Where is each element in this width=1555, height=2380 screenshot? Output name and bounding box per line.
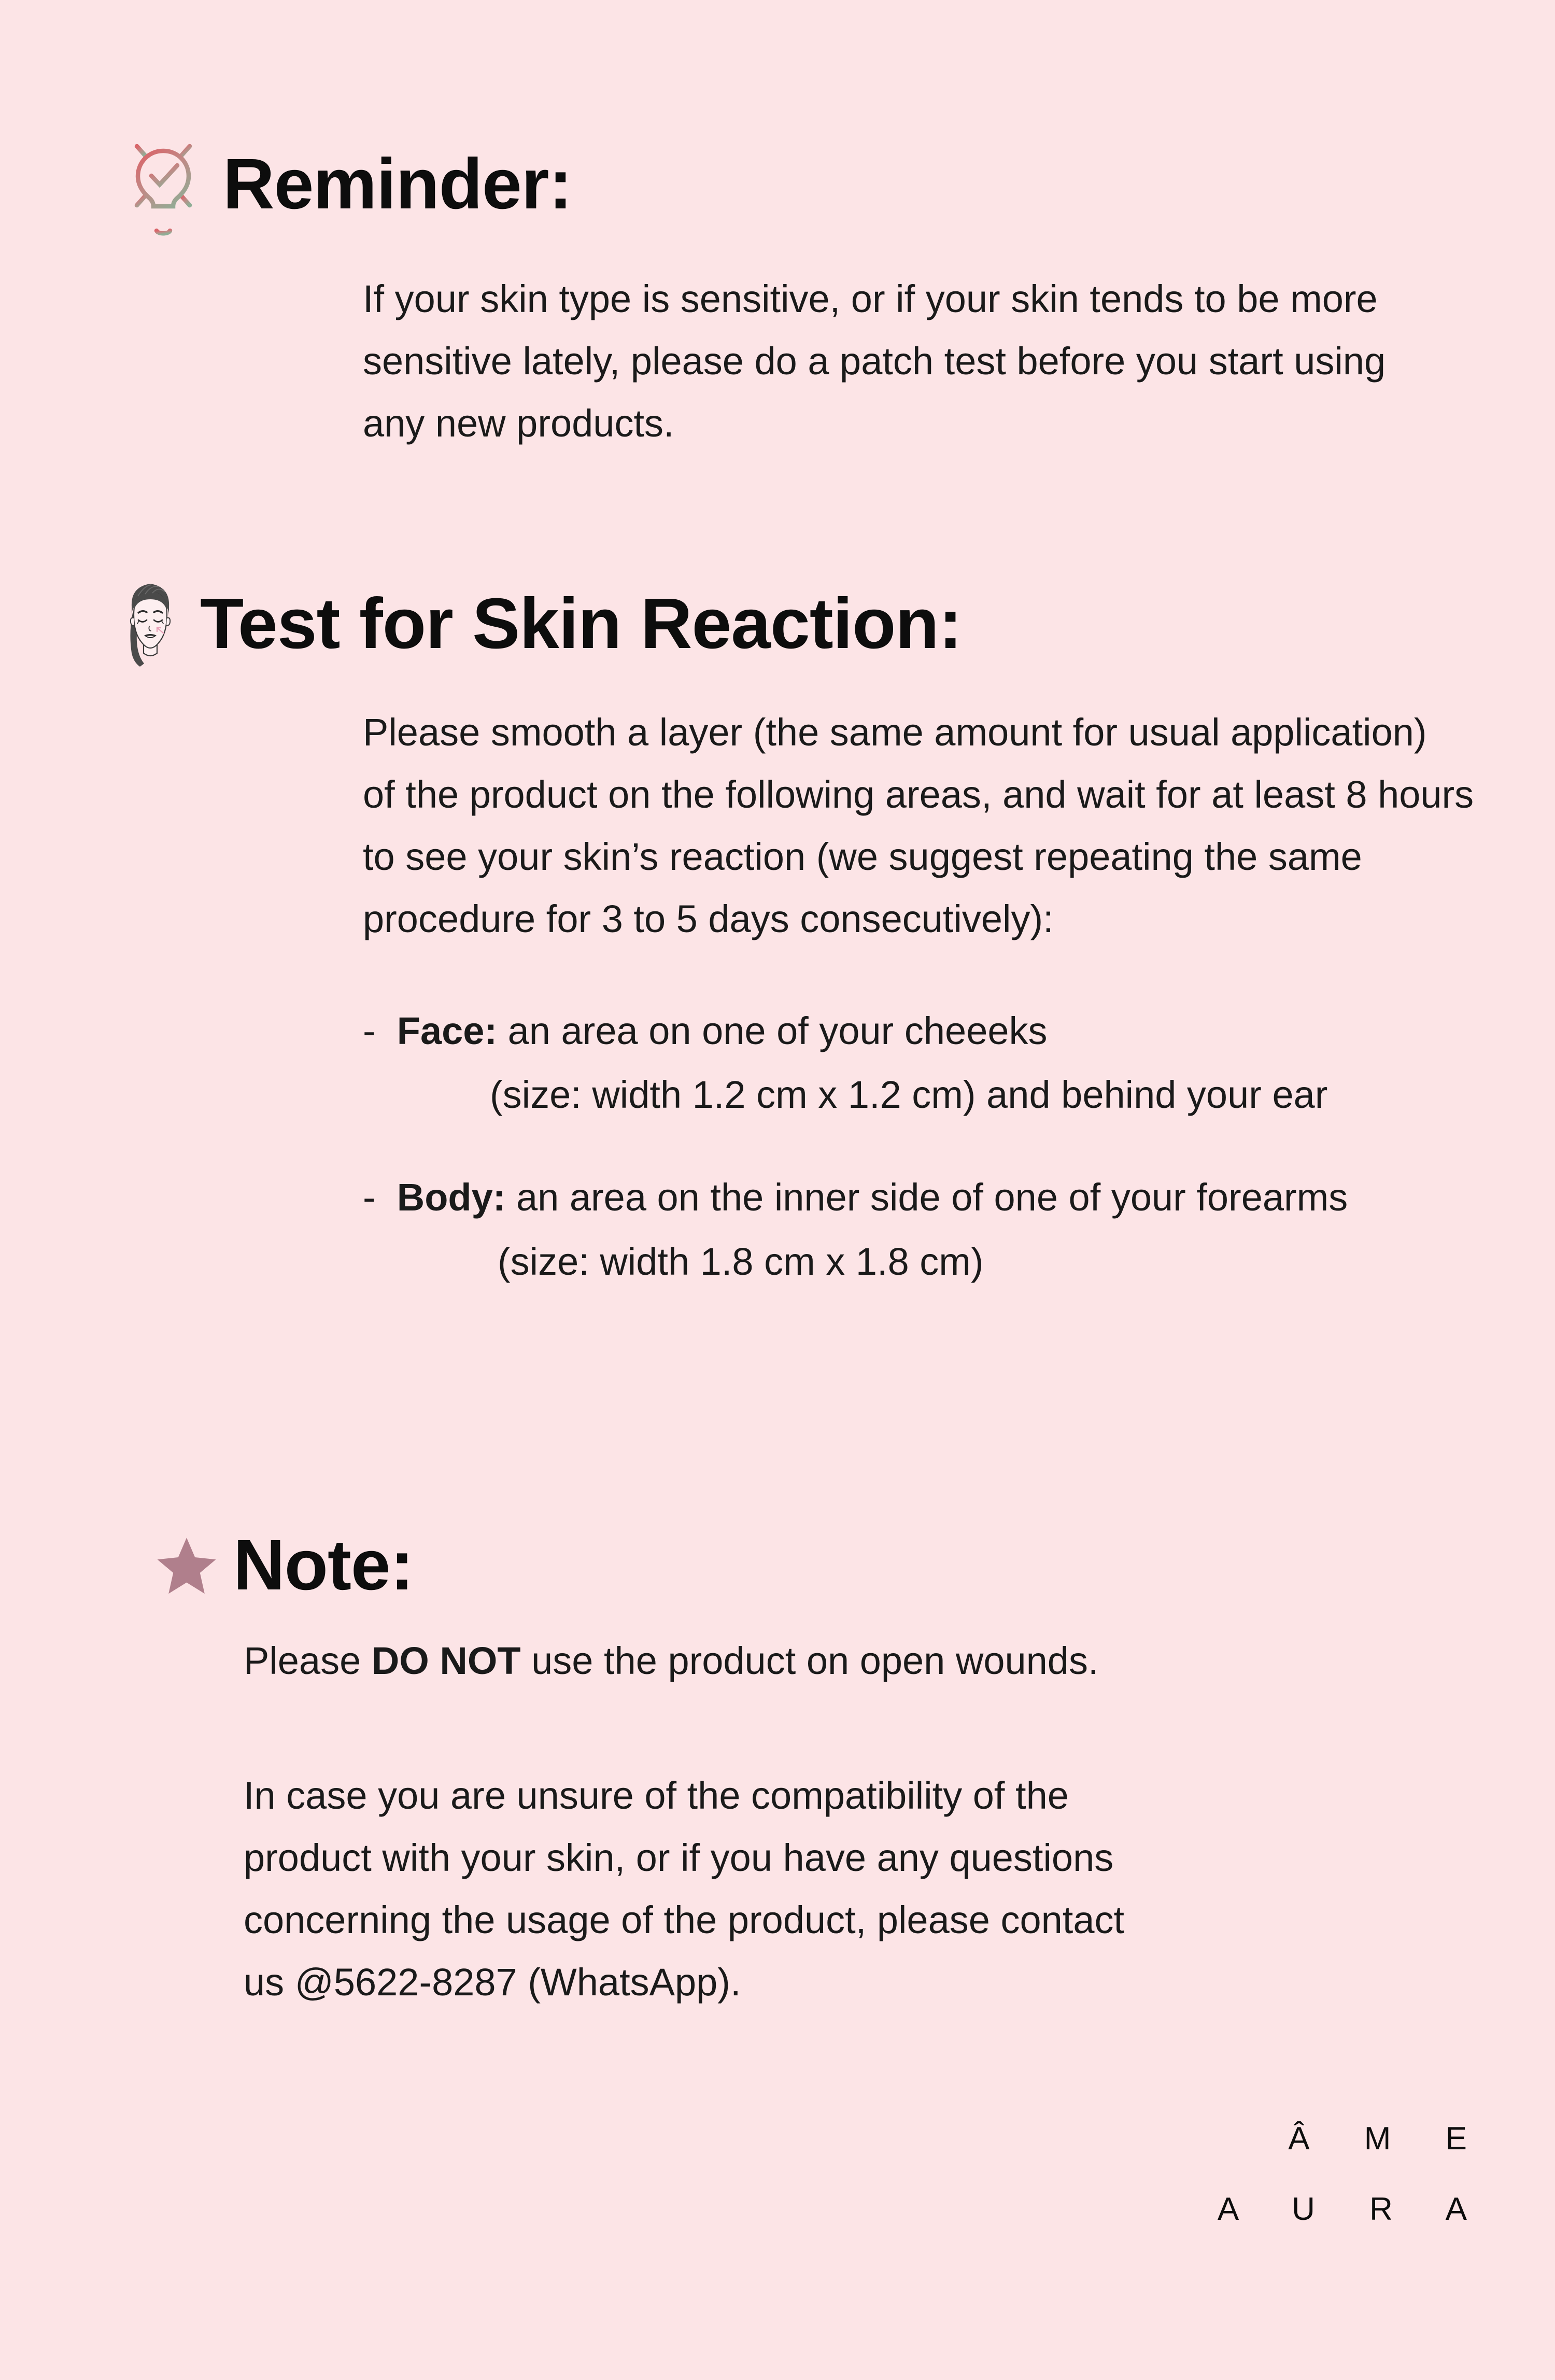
face-label: Face: bbox=[397, 1009, 497, 1052]
test-area-item-face: - Face: an area on one of your cheeeks bbox=[363, 1000, 1474, 1062]
face-bullet: - bbox=[363, 1009, 376, 1052]
reminder-heading-row: Reminder: bbox=[119, 132, 1386, 236]
reminder-line-3: any new products. bbox=[363, 392, 1386, 455]
face-size-line: (size: width 1.2 cm x 1.2 cm) and behind… bbox=[490, 1064, 1474, 1126]
reminder-line-2: sensitive lately, please do a patch test… bbox=[363, 330, 1386, 392]
skin-reaction-line-3: to see your skin’s reaction (we suggest … bbox=[363, 826, 1474, 888]
note-closing-line-2: product with your skin, or if you have a… bbox=[244, 1827, 1124, 1889]
patch-test-instruction-page: Reminder: If your skin type is sensitive… bbox=[0, 0, 1555, 2380]
body-text: an area on the inner side of one of your… bbox=[516, 1176, 1348, 1219]
star-icon bbox=[155, 1534, 218, 1596]
body-bullet: - bbox=[363, 1176, 376, 1219]
note-section: Note: Please DO NOT use the product on o… bbox=[155, 1529, 1124, 2013]
face-text: an area on one of your cheeeks bbox=[508, 1009, 1048, 1052]
note-closing-line-4: us @5622-8287 (WhatsApp). bbox=[244, 1951, 1124, 2013]
reminder-body: If your skin type is sensitive, or if yo… bbox=[363, 268, 1386, 455]
note-warning-bold: DO NOT bbox=[372, 1639, 521, 1682]
skin-reaction-line-1: Please smooth a layer (the same amount f… bbox=[363, 701, 1474, 764]
skin-reaction-section: Test for Skin Reaction: Please smooth a … bbox=[119, 575, 1474, 1293]
note-heading-row: Note: bbox=[155, 1529, 1124, 1601]
skin-reaction-body: Please smooth a layer (the same amount f… bbox=[363, 701, 1474, 950]
brand-line-aura: A U R A bbox=[1218, 2193, 1490, 2226]
reminder-line-1: If your skin type is sensitive, or if yo… bbox=[363, 268, 1386, 330]
note-warning-prefix: Please bbox=[244, 1639, 372, 1682]
woman-face-icon bbox=[119, 575, 181, 671]
note-warning-suffix: use the product on open wounds. bbox=[521, 1639, 1099, 1682]
test-area-item-body: - Body: an area on the inner side of one… bbox=[363, 1166, 1474, 1229]
note-closing: In case you are unsure of the compatibil… bbox=[244, 1765, 1124, 2013]
skin-reaction-line-4: procedure for 3 to 5 days consecutively)… bbox=[363, 888, 1474, 950]
note-warning: Please DO NOT use the product on open wo… bbox=[244, 1630, 1124, 1692]
reminder-heading: Reminder: bbox=[223, 148, 572, 220]
body-label: Body: bbox=[397, 1176, 506, 1219]
brand-line-ame: Â M E bbox=[1218, 2123, 1490, 2155]
body-size-line: (size: width 1.8 cm x 1.8 cm) bbox=[498, 1231, 1474, 1293]
reminder-section: Reminder: If your skin type is sensitive… bbox=[119, 132, 1386, 455]
note-closing-line-3: concerning the usage of the product, ple… bbox=[244, 1889, 1124, 1951]
note-closing-line-1: In case you are unsure of the compatibil… bbox=[244, 1765, 1124, 1827]
skin-reaction-line-2: of the product on the following areas, a… bbox=[363, 764, 1474, 826]
lightbulb-check-icon bbox=[119, 132, 207, 236]
skin-reaction-heading: Test for Skin Reaction: bbox=[200, 588, 962, 659]
skin-reaction-heading-row: Test for Skin Reaction: bbox=[119, 575, 1474, 671]
note-heading: Note: bbox=[233, 1529, 414, 1601]
brand-logo: Â M E A U R A bbox=[1218, 2123, 1467, 2226]
